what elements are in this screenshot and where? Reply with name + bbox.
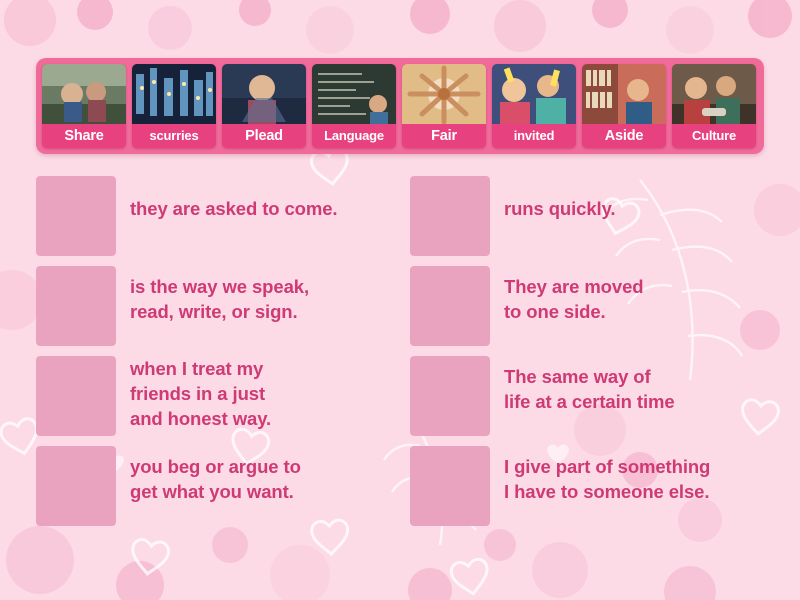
drop-zone[interactable] [410, 176, 490, 256]
card-label: Fair [402, 124, 486, 148]
word-card[interactable]: Language [312, 64, 396, 148]
drop-zone[interactable] [410, 356, 490, 436]
card-label: Language [312, 124, 396, 148]
card-thumbnail [672, 64, 756, 124]
word-bank-tray: Share scurries [36, 58, 764, 154]
answers-column-left: they are asked to come. is the way we sp… [36, 176, 388, 536]
card-thumbnail [402, 64, 486, 124]
word-card[interactable]: Culture [672, 64, 756, 148]
answer-row: they are asked to come. [36, 176, 388, 256]
answer-text: they are asked to come. [130, 176, 337, 221]
word-card[interactable]: scurries [132, 64, 216, 148]
word-card[interactable]: Aside [582, 64, 666, 148]
word-card[interactable]: invited [492, 64, 576, 148]
card-thumbnail [132, 64, 216, 124]
drop-zone[interactable] [36, 266, 116, 346]
card-label: Share [42, 124, 126, 148]
card-label: Aside [582, 124, 666, 148]
card-label: invited [492, 124, 576, 148]
drop-zone[interactable] [36, 356, 116, 436]
card-thumbnail [492, 64, 576, 124]
answer-row: I give part of something I have to someo… [410, 446, 782, 526]
answer-row: you beg or argue to get what you want. [36, 446, 388, 526]
drop-zone[interactable] [36, 176, 116, 256]
drop-zone[interactable] [410, 446, 490, 526]
answer-row: The same way of life at a certain time [410, 356, 782, 436]
answer-text: The same way of life at a certain time [504, 356, 675, 414]
drop-zone[interactable] [410, 266, 490, 346]
answer-text: when I treat my friends in a just and ho… [130, 356, 271, 431]
answer-row: is the way we speak, read, write, or sig… [36, 266, 388, 346]
card-label: Plead [222, 124, 306, 148]
word-card[interactable]: Share [42, 64, 126, 148]
word-card[interactable]: Fair [402, 64, 486, 148]
card-label: scurries [132, 124, 216, 148]
answer-text: They are moved to one side. [504, 266, 643, 324]
answer-row: They are moved to one side. [410, 266, 782, 346]
answers-column-right: runs quickly. They are moved to one side… [410, 176, 782, 536]
card-thumbnail [222, 64, 306, 124]
answer-row: when I treat my friends in a just and ho… [36, 356, 388, 436]
card-thumbnail [312, 64, 396, 124]
word-card[interactable]: Plead [222, 64, 306, 148]
card-label: Culture [672, 124, 756, 148]
drop-zone[interactable] [36, 446, 116, 526]
card-thumbnail [582, 64, 666, 124]
card-thumbnail [42, 64, 126, 124]
answer-text: you beg or argue to get what you want. [130, 446, 301, 504]
answer-row: runs quickly. [410, 176, 782, 256]
answer-text: I give part of something I have to someo… [504, 446, 710, 504]
answer-text: runs quickly. [504, 176, 615, 221]
answer-text: is the way we speak, read, write, or sig… [130, 266, 309, 324]
